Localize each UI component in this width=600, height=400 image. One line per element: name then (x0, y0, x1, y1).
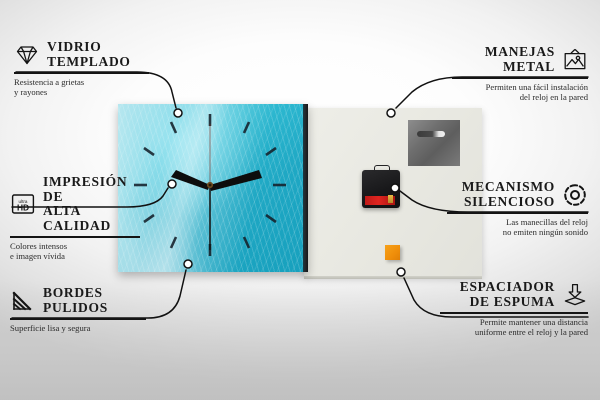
connector-dot-mecanismo (391, 184, 399, 192)
feature-desc-1: Superficie lisa y segura (10, 323, 146, 334)
feature-title-2: DE ESPUMA (460, 295, 555, 310)
gear-icon (562, 182, 588, 208)
feature-espaciador-espuma: ESPACIADOR DE ESPUMA Permite mantener un… (440, 280, 588, 338)
arrow-down-pad-icon (562, 282, 588, 308)
feature-title-2: SILENCIOSO (462, 195, 555, 210)
feature-bordes-pulidos: BORDES PULIDOS Superficie lisa y segura (10, 286, 146, 333)
feature-title: MECANISMO (462, 180, 555, 195)
feature-title-2: METAL (485, 60, 555, 75)
infographic-canvas: VIDRIO TEMPLADO Resistencia a grietas y … (0, 0, 600, 400)
feature-desc-2: e imagen vívida (10, 251, 140, 262)
feature-title: MANEJAS (485, 45, 555, 60)
feature-desc-2: y rayones (14, 87, 149, 98)
connector-dot-vidrio-templado (174, 109, 182, 117)
connector-dot-bordes-pulidos (184, 260, 192, 268)
feature-desc-1: Las manecillas del reloj (447, 217, 588, 228)
feature-desc-2: del reloj en la pared (452, 92, 588, 103)
feature-divider (10, 236, 140, 238)
feature-desc-1: Permite mantener una distancia (440, 317, 588, 328)
ultra-hd-icon: ultra HD (10, 191, 36, 217)
feature-title: BORDES (43, 286, 108, 301)
feature-divider (10, 318, 146, 320)
feature-manejas-metal: MANEJAS METAL Permiten una fácil instala… (452, 45, 588, 103)
ultra-hd-large-text: HD (17, 203, 29, 213)
feature-divider (452, 77, 588, 79)
feature-title: IMPRESIÓN DE (43, 175, 140, 204)
feature-title-2: ALTA CALIDAD (43, 204, 140, 233)
feature-title: VIDRIO (47, 40, 131, 55)
feature-desc-2: uniforme entre el reloj y la pared (440, 327, 588, 338)
connector-dot-espaciador (397, 268, 405, 276)
feature-desc-1: Permiten una fácil instalación (452, 82, 588, 93)
connector-dot-manejas-metal (387, 109, 395, 117)
feature-desc-1: Colores intensos (10, 241, 140, 252)
feature-vidrio-templado: VIDRIO TEMPLADO Resistencia a grietas y … (14, 40, 149, 98)
connector-dot-impresion (168, 180, 176, 188)
feature-desc-1: Resistencia a grietas (14, 77, 149, 88)
feature-title: ESPACIADOR (460, 280, 555, 295)
feature-mecanismo-silencioso: MECANISMO SILENCIOSO Las manecillas del … (447, 180, 588, 238)
feature-divider (14, 72, 149, 74)
feature-desc-2: no emiten ningún sonido (447, 227, 588, 238)
picture-frame-icon (562, 47, 588, 73)
polished-edges-icon (10, 288, 36, 314)
feature-divider (440, 312, 588, 314)
diamond-icon (14, 42, 40, 68)
feature-impresion-alta-calidad: ultra HD IMPRESIÓN DE ALTA CALIDAD Color… (10, 175, 140, 262)
feature-title-2: TEMPLADO (47, 55, 131, 70)
feature-title-2: PULIDOS (43, 301, 108, 316)
feature-divider (447, 212, 588, 214)
